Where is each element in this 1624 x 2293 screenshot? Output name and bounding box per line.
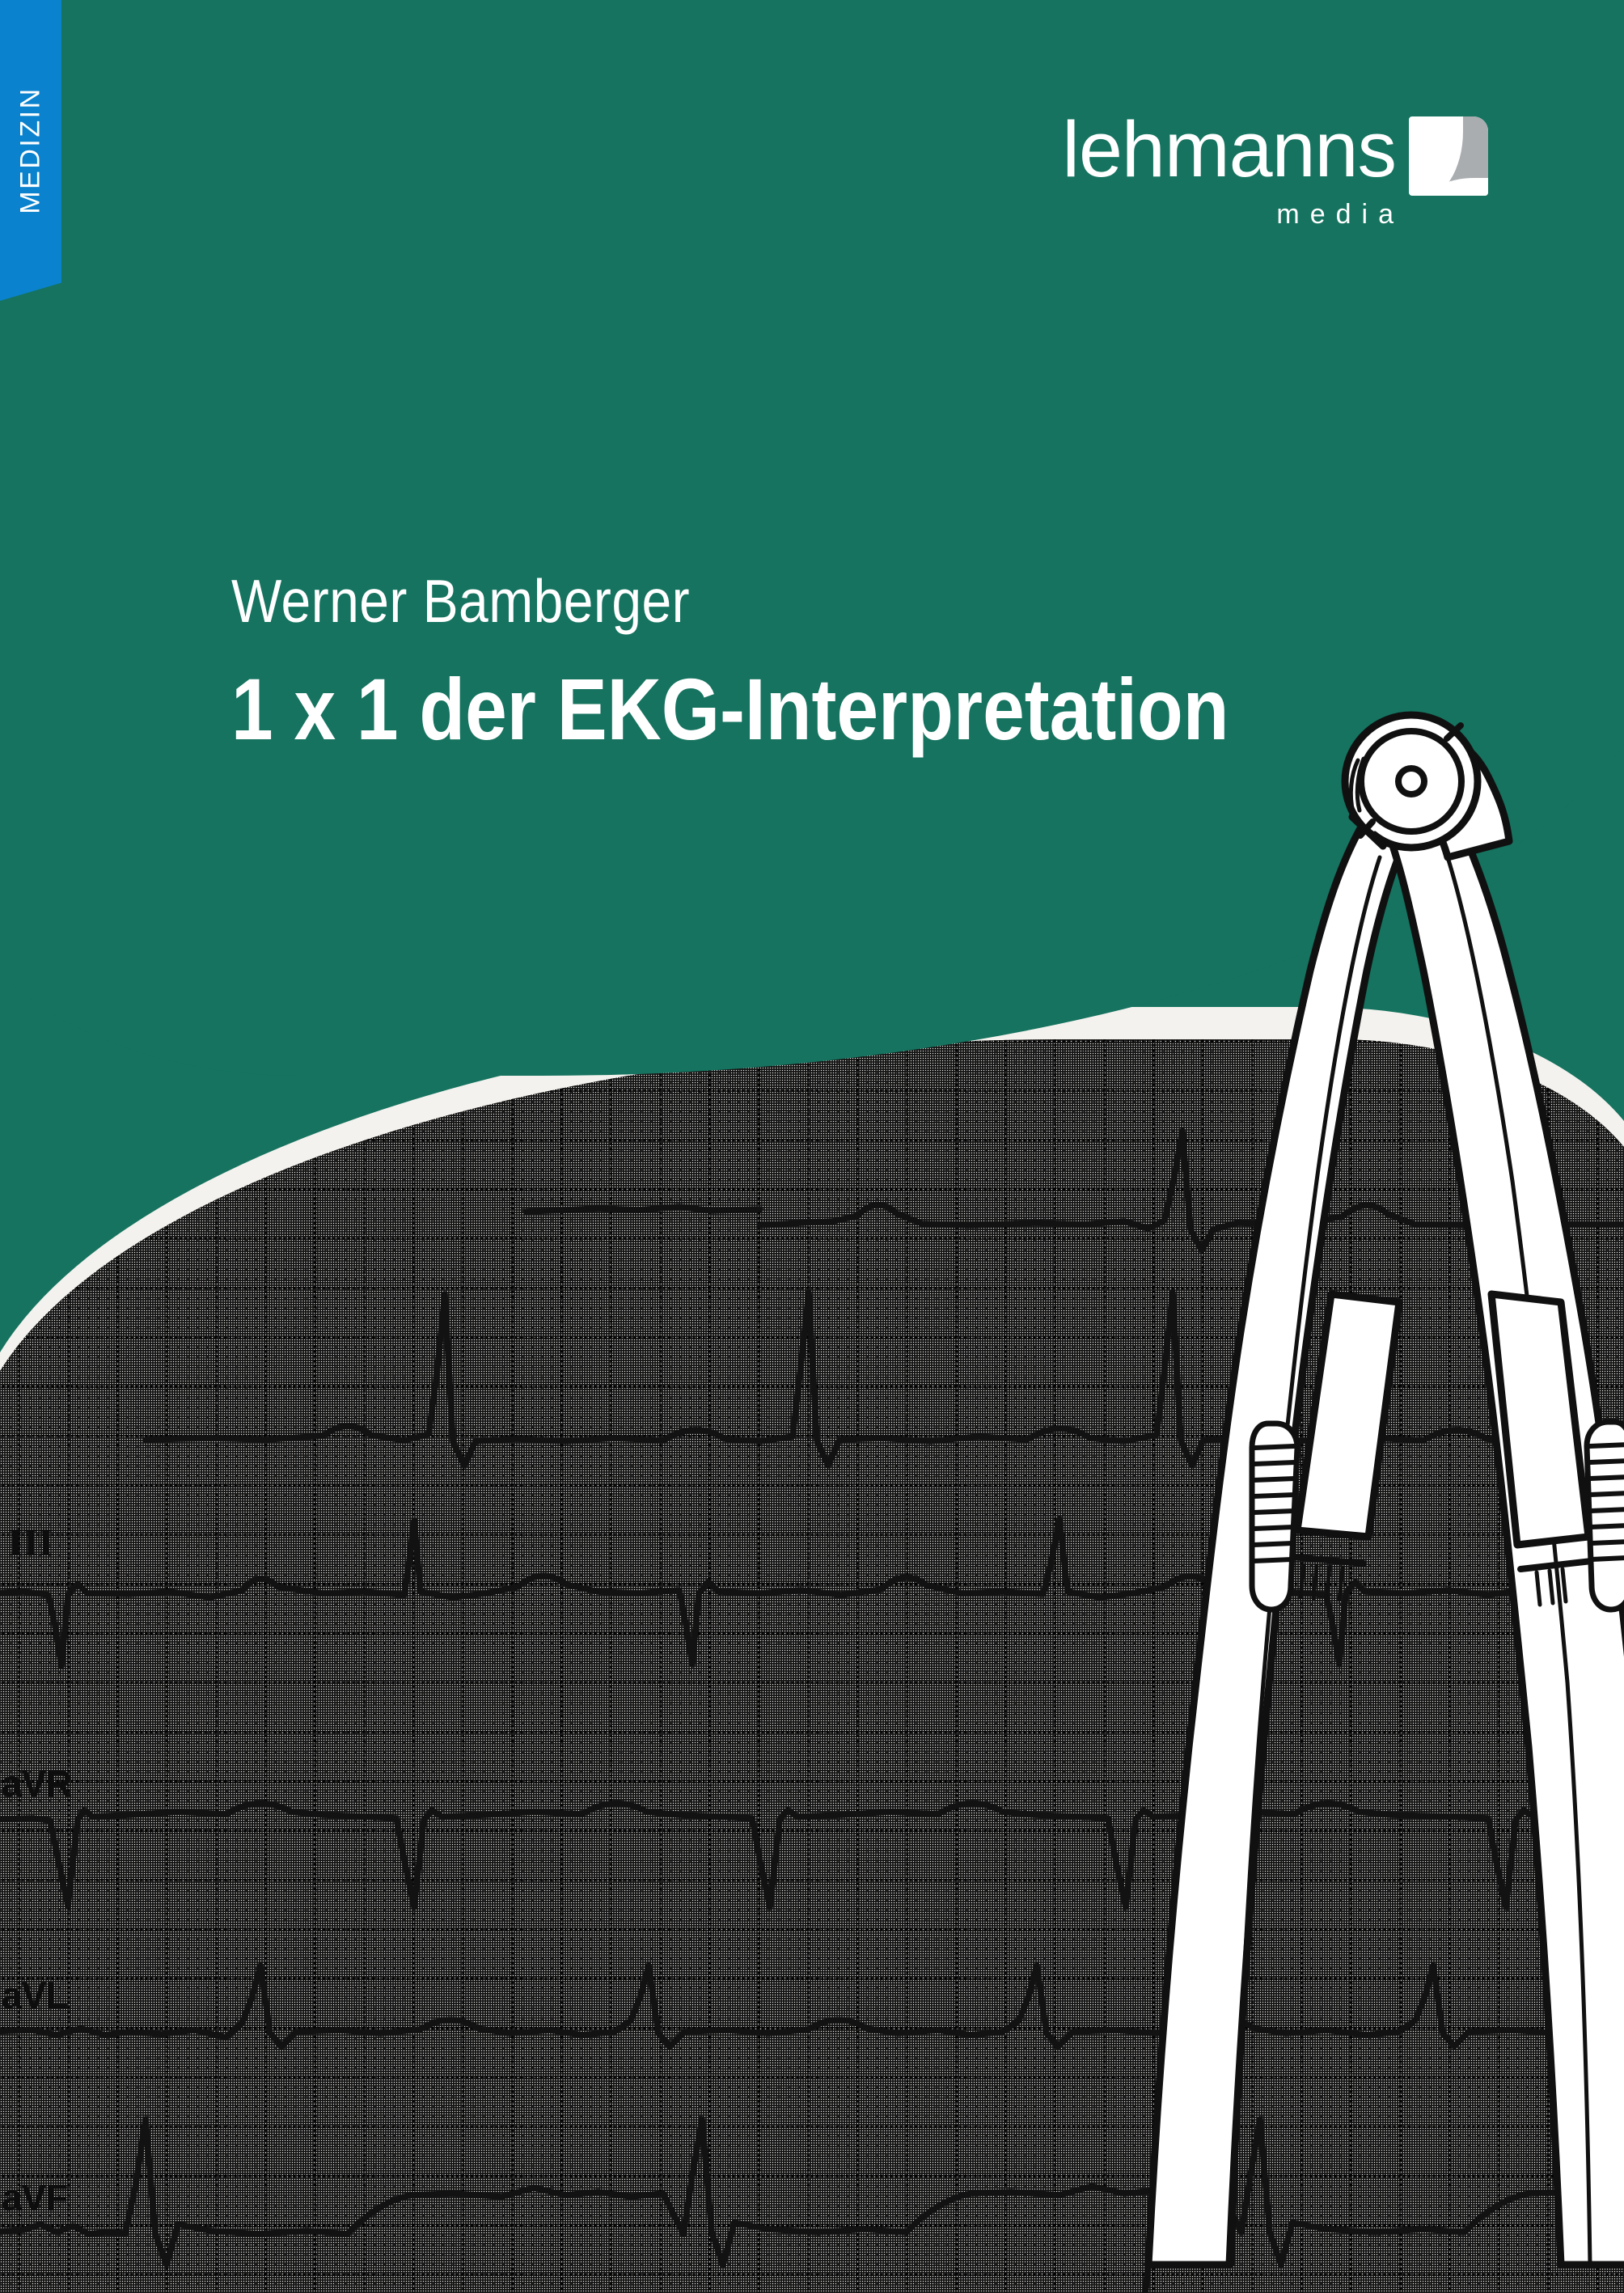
book-page-mark-icon	[1409, 116, 1488, 196]
lead-label-avl: aVL	[2, 1974, 67, 2017]
lead-label-avr: aVR	[2, 1762, 71, 1805]
series-tab-label: MEDIZIN	[15, 87, 47, 214]
grid-major-horizontal	[0, 1039, 1624, 2293]
paper-surface	[0, 1039, 1624, 2293]
publisher-wordmark: lehmanns	[1062, 113, 1396, 185]
publisher-logo: lehmanns media	[1062, 113, 1488, 231]
publisher-subtitle: media	[1062, 199, 1404, 231]
author-name: Werner Bamberger	[231, 566, 1252, 636]
book-title: 1 x 1 der EKG-Interpretation	[231, 658, 1229, 759]
lead-label-iii: III	[8, 1521, 53, 1565]
lead-label-avf: aVF	[2, 2176, 67, 2219]
book-cover: III aVR aVL aVF MEDIZIN lehmanns media W…	[0, 0, 1624, 2293]
series-tab-medizin: MEDIZIN	[0, 0, 61, 301]
title-block: Werner Bamberger 1 x 1 der EKG-Interpret…	[231, 566, 1391, 759]
